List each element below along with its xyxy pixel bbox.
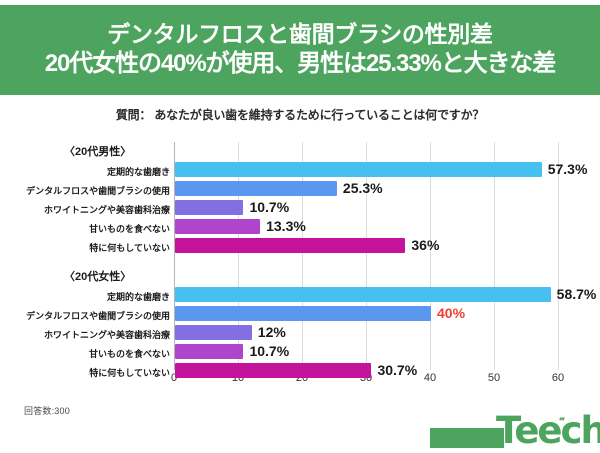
category-label: 特に何もしていない — [2, 366, 170, 379]
category-label: デンタルフロスや歯間ブラシの使用 — [2, 309, 170, 322]
category-label: 甘いものを食べない — [2, 347, 170, 360]
bar-value-label: 13.3% — [266, 219, 306, 234]
category-label: ホワイトニングや美容歯科治療 — [2, 328, 170, 341]
bar-value-label: 10.7% — [249, 344, 289, 359]
bar — [175, 162, 542, 177]
bar — [175, 200, 243, 215]
category-label: 甘いものを食べない — [2, 222, 170, 235]
response-count: 回答数:300 — [24, 404, 70, 417]
banner-title-line2: 20代女性の40%が使用、男性は25.33%と大きな差 — [45, 49, 555, 80]
category-label: 定期的な歯磨き — [2, 290, 170, 303]
x-axis-tick-label: 60 — [552, 372, 564, 384]
bar — [175, 325, 252, 340]
category-label: 特に何もしていない — [2, 241, 170, 254]
survey-question: 質問： あなたが良い歯を維持するために行っていることは何ですか？ — [0, 106, 600, 123]
bar — [175, 363, 371, 378]
bar-value-label: 57.3% — [548, 162, 588, 177]
x-axis-tick-label: 40 — [424, 372, 436, 384]
bar-value-label: 58.7% — [557, 287, 597, 302]
bar-value-label: 40% — [437, 306, 465, 321]
teech-logo: Teech ′′′ — [430, 410, 600, 450]
category-label: デンタルフロスや歯間ブラシの使用 — [2, 184, 170, 197]
bar-value-label: 12% — [258, 325, 286, 340]
bar-value-label: 10.7% — [249, 200, 289, 215]
category-label: ホワイトニングや美容歯科治療 — [2, 203, 170, 216]
bar — [175, 219, 260, 234]
bar — [175, 287, 551, 302]
logo-text: Teech — [496, 412, 600, 450]
banner-title-line1: デンタルフロスと歯間ブラシの性別差 — [107, 20, 492, 49]
group-label: 〈20代男性〉 — [64, 143, 131, 159]
header-banner: デンタルフロスと歯間ブラシの性別差 20代女性の40%が使用、男性は25.33%… — [0, 5, 600, 95]
logo-sparkle-icon: ′′′ — [559, 416, 564, 428]
group-label: 〈20代女性〉 — [64, 268, 131, 284]
x-axis-tick-label: 50 — [488, 372, 500, 384]
bar — [175, 238, 405, 253]
bar — [175, 181, 337, 196]
bar — [175, 306, 431, 321]
bar — [175, 344, 243, 359]
plot-area: 0102030405060〈20代男性〉定期的な歯磨き57.3%デンタルフロスや… — [174, 142, 558, 370]
bar-value-label: 36% — [411, 238, 439, 253]
bar-value-label: 30.7% — [377, 363, 417, 378]
bar-value-label: 25.3% — [343, 181, 383, 196]
logo-bar — [430, 428, 504, 448]
category-label: 定期的な歯磨き — [2, 165, 170, 178]
bar-chart: 0102030405060〈20代男性〉定期的な歯磨き57.3%デンタルフロスや… — [0, 130, 600, 390]
